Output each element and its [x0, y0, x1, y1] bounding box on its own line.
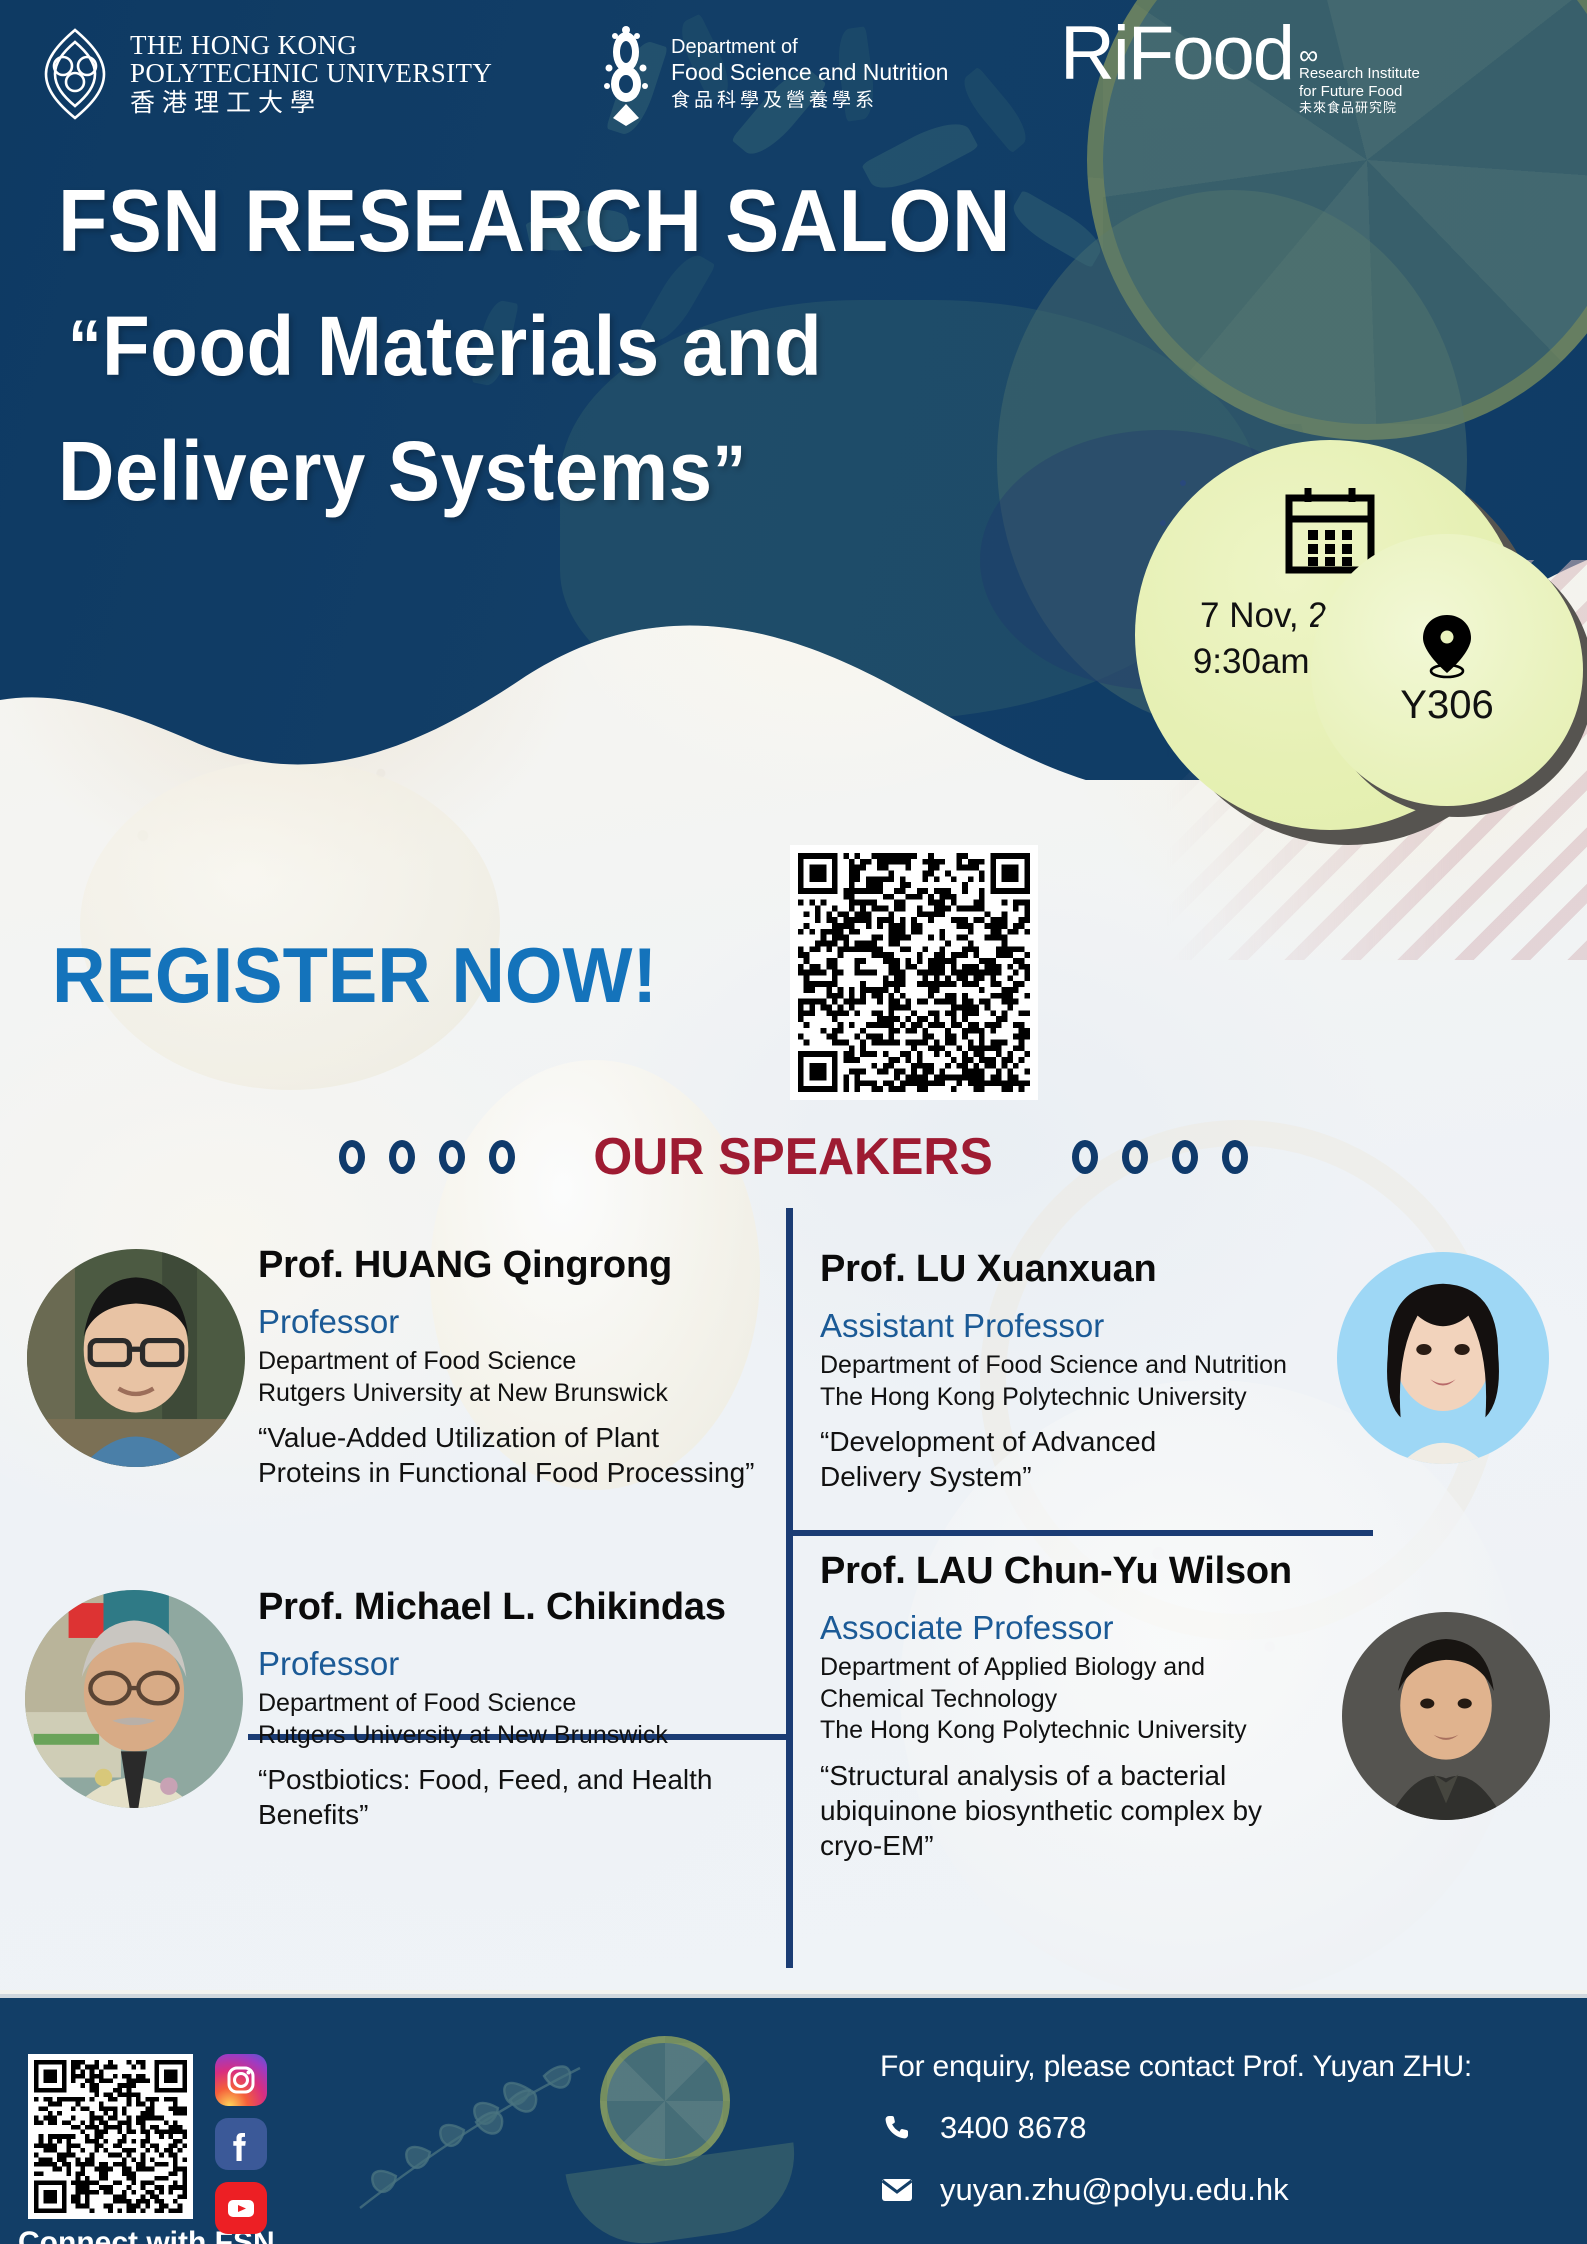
poster-title-block: FSN RESEARCH SALON “Food Materials and D… — [58, 170, 1094, 520]
polyu-line2: POLYTECHNIC UNIVERSITY — [130, 59, 492, 88]
rifood-sub2: for Future Food — [1299, 83, 1420, 101]
decor-dot — [339, 1140, 365, 1174]
enquiry-text: For enquiry, please contact Prof. Yuyan … — [880, 2050, 1472, 2084]
decor-dot — [1122, 1140, 1148, 1174]
speaker-photo-lau-chun-yu-wilson — [1342, 1612, 1550, 1820]
background-shape-egg-left — [80, 760, 500, 1090]
decor-herb-sprig — [330, 2048, 590, 2228]
subtitle-text-1: Food Materials and — [102, 299, 822, 393]
subtitle-text-2: Delivery Systems — [58, 424, 713, 518]
affiliation-line: Chemical Technology — [820, 1684, 1350, 1716]
our-speakers-title: OUR SPEAKERS — [594, 1127, 993, 1187]
logo-bar: THE HONG KONG POLYTECHNIC UNIVERSITY 香港理… — [0, 0, 1587, 150]
speaker-affiliation: Department of Food Science Rutgers Unive… — [258, 1688, 778, 1751]
infinity-icon: ∞ — [1299, 46, 1420, 65]
decor-dot — [389, 1140, 415, 1174]
grid-divider-right — [793, 1530, 1373, 1536]
speaker-photo-michael-chikindas — [25, 1590, 243, 1808]
affiliation-line: The Hong Kong Polytechnic University — [820, 1715, 1350, 1747]
speaker-role: Professor — [258, 1303, 768, 1341]
decor-lime-slice — [600, 2036, 730, 2166]
decor-banana — [566, 2142, 805, 2244]
poster-title-main: FSN RESEARCH SALON — [58, 170, 1011, 272]
department-line1: Department of — [671, 35, 948, 59]
speaker-card-1: Prof. HUANG Qingrong Professor Departmen… — [258, 1244, 768, 1491]
department-logo-icon — [595, 22, 657, 126]
phone-icon — [880, 2111, 914, 2145]
speaker-name: Prof. LU Xuanxuan — [820, 1248, 1340, 1291]
speaker-affiliation: Department of Food Science and Nutrition… — [820, 1350, 1340, 1413]
polyu-logo-icon — [36, 26, 114, 122]
poster-footer: Connect with FSN — [0, 1994, 1587, 2244]
connect-qr-code[interactable] — [28, 2054, 193, 2219]
poster-subtitle-line2: Delivery Systems” — [58, 423, 1021, 520]
dots-left — [339, 1140, 515, 1174]
location-pin-icon — [1419, 613, 1475, 679]
rifood-logo: RiFood ∞ Research Institute for Future F… — [1060, 18, 1420, 116]
poster-subtitle-line1: “Food Materials and — [68, 298, 1022, 395]
speaker-card-4: Prof. LAU Chun-Yu Wilson Associate Profe… — [820, 1550, 1350, 1863]
speaker-card-3: Prof. Michael L. Chikindas Professor Dep… — [258, 1586, 778, 1833]
speakers-grid: Prof. HUANG Qingrong Professor Departmen… — [0, 1200, 1587, 1970]
department-chinese: 食品科學及營養學系 — [671, 90, 948, 113]
affiliation-line: Rutgers University at New Brunswick — [258, 1378, 768, 1410]
email-row[interactable]: yuyan.zhu@polyu.edu.hk — [880, 2172, 1472, 2208]
contact-block: For enquiry, please contact Prof. Yuyan … — [880, 2050, 1472, 2208]
polyu-line1: THE HONG KONG — [130, 31, 492, 60]
speaker-photo-huang-qingrong — [27, 1249, 245, 1467]
speaker-topic: “Development of Advanced Delivery System… — [820, 1424, 1240, 1495]
department-line2: Food Science and Nutrition — [671, 59, 948, 87]
decor-dot — [1072, 1140, 1098, 1174]
registration-qr-code[interactable] — [790, 845, 1038, 1100]
decor-dot — [489, 1140, 515, 1174]
speaker-photo-lu-xuanxuan — [1337, 1252, 1549, 1464]
decor-dot — [1222, 1140, 1248, 1174]
email-address: yuyan.zhu@polyu.edu.hk — [940, 2172, 1289, 2208]
speaker-role: Associate Professor — [820, 1609, 1350, 1647]
rifood-chinese: 未來食品研究院 — [1299, 100, 1420, 115]
speaker-name: Prof. HUANG Qingrong — [258, 1244, 768, 1287]
speaker-name: Prof. LAU Chun-Yu Wilson — [820, 1550, 1350, 1593]
quote-open: “ — [68, 307, 102, 387]
register-now-label[interactable]: REGISTER NOW! — [52, 930, 657, 1021]
instagram-icon[interactable] — [215, 2054, 267, 2106]
affiliation-line: Department of Food Science — [258, 1688, 778, 1720]
polyu-logo: THE HONG KONG POLYTECHNIC UNIVERSITY 香港理… — [36, 26, 492, 122]
affiliation-line: Department of Applied Biology and — [820, 1652, 1350, 1684]
social-links — [215, 2054, 267, 2234]
affiliation-line: Rutgers University at New Brunswick — [258, 1720, 778, 1752]
event-venue: Y306 — [1400, 683, 1493, 728]
speaker-card-2: Prof. LU Xuanxuan Assistant Professor De… — [820, 1248, 1340, 1495]
phone-number: 3400 8678 — [940, 2110, 1087, 2146]
our-speakers-header: OUR SPEAKERS — [0, 1122, 1587, 1192]
speaker-topic: “Value-Added Utilization of Plant Protei… — [258, 1420, 768, 1491]
affiliation-line: Department of Food Science — [258, 1346, 768, 1378]
speaker-role: Professor — [258, 1645, 778, 1683]
event-poster: THE HONG KONG POLYTECHNIC UNIVERSITY 香港理… — [0, 0, 1587, 2244]
rifood-sub1: Research Institute — [1299, 65, 1420, 83]
affiliation-line: Department of Food Science and Nutrition — [820, 1350, 1340, 1382]
polyu-chinese: 香港理工大學 — [130, 91, 492, 118]
rifood-wordmark: RiFood — [1060, 18, 1293, 90]
facebook-icon[interactable] — [215, 2118, 267, 2170]
quote-close: ” — [713, 432, 747, 512]
speaker-affiliation: Department of Applied Biology and Chemic… — [820, 1652, 1350, 1747]
phone-row[interactable]: 3400 8678 — [880, 2110, 1472, 2146]
affiliation-line: The Hong Kong Polytechnic University — [820, 1382, 1340, 1414]
speaker-topic: “Structural analysis of a bacterial ubiq… — [820, 1758, 1330, 1864]
decor-dot — [439, 1140, 465, 1174]
department-logo: Department of Food Science and Nutrition… — [595, 22, 948, 126]
event-venue-circle: Y306 — [1311, 534, 1583, 806]
youtube-icon[interactable] — [215, 2182, 267, 2234]
decor-dot — [1172, 1140, 1198, 1174]
dots-right — [1072, 1140, 1248, 1174]
speaker-affiliation: Department of Food Science Rutgers Unive… — [258, 1346, 768, 1409]
speaker-name: Prof. Michael L. Chikindas — [258, 1586, 778, 1629]
email-icon — [880, 2173, 914, 2207]
speaker-role: Assistant Professor — [820, 1307, 1340, 1345]
grid-vertical-divider — [786, 1208, 793, 1968]
speaker-topic: “Postbiotics: Food, Feed, and Health Ben… — [258, 1762, 778, 1833]
